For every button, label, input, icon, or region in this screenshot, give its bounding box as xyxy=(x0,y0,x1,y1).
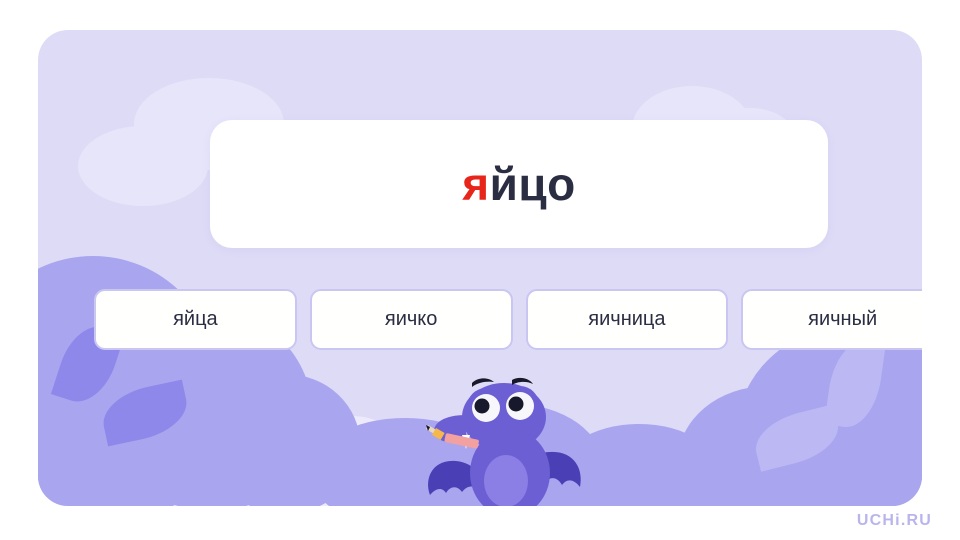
word-rest: йцо xyxy=(490,158,576,210)
brand-watermark: UCHi.RU xyxy=(857,512,932,530)
screen: яйцо яйца яичко яичница яичный UCHi.RU xyxy=(0,0,960,540)
dragon-pupil-right xyxy=(509,397,524,412)
answer-options: яйца яичко яичница яичный xyxy=(94,289,922,350)
answer-option-2[interactable]: яичко xyxy=(310,289,513,350)
dragon-mascot xyxy=(422,375,588,506)
target-word: яйцо xyxy=(462,157,576,211)
lesson-panel: яйцо яйца яичко яичница яичный xyxy=(38,30,922,506)
dragon-pupil-left xyxy=(475,399,490,414)
dragon-icon xyxy=(422,375,588,506)
dragon-belly xyxy=(484,455,528,506)
answer-option-3[interactable]: яичница xyxy=(526,289,729,350)
dragon-brow-right xyxy=(512,378,533,385)
word-highlighted-prefix: я xyxy=(462,158,489,210)
answer-option-1[interactable]: яйца xyxy=(94,289,297,350)
answer-option-4[interactable]: яичный xyxy=(741,289,922,350)
sky-cloud-left-icon xyxy=(78,126,208,206)
word-card: яйцо xyxy=(210,120,828,248)
